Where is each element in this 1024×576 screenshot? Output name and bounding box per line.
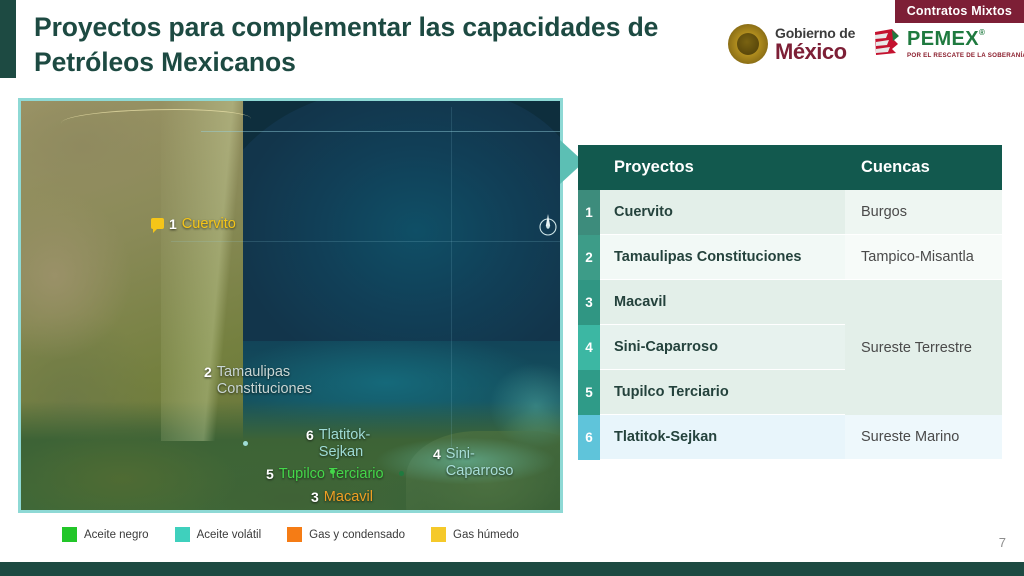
legend-label: Gas y condensado — [309, 529, 405, 541]
map-label-cuervito[interactable]: 1 Cuervito — [151, 216, 236, 233]
graticule-horizontal — [201, 131, 563, 132]
table-row[interactable]: 2 Tamaulipas Constituciones Tampico-Misa… — [578, 235, 1002, 280]
page-title: Proyectos para complementar las capacida… — [34, 10, 724, 80]
legend-swatch-icon — [175, 527, 190, 542]
legend-item-aceite-volatil: Aceite volátil — [175, 527, 262, 542]
pemex-logo: PEMEX® POR EL RESCATE DE LA SOBERANÍA — [872, 26, 1024, 60]
row-basin-name: Sureste Marino — [845, 415, 1002, 460]
map-label-tupilco-terciario[interactable]: 5 Tupilco Terciario — [266, 466, 384, 483]
legend-label: Aceite negro — [84, 529, 149, 541]
map-label-tlatitok-sejkan[interactable]: 6 Tlatitok- Sejkan — [306, 427, 370, 460]
legend-item-gas-humedo: Gas húmedo — [431, 527, 519, 542]
table-header-proyectos: Proyectos — [600, 145, 845, 190]
map-label-number: 6 — [306, 427, 314, 443]
map-label-number: 2 — [204, 364, 212, 380]
gobierno-de-mexico-logo: Gobierno de México — [728, 24, 855, 64]
row-number-badge: 1 — [578, 190, 600, 235]
pemex-tagline: POR EL RESCATE DE LA SOBERANÍA — [907, 52, 1024, 59]
merged-basin-cell: Sureste Terrestre — [845, 280, 1002, 415]
map-pin-icon — [151, 218, 164, 229]
row-basin-name: Burgos — [845, 190, 1002, 235]
row-basin-name: Tampico-Misantla — [845, 235, 1002, 280]
row-project-name: Macavil — [600, 280, 845, 325]
row-number-badge: 3 — [578, 280, 600, 325]
graticule-horizontal-2 — [171, 241, 563, 242]
map-label-name: Macavil — [324, 489, 373, 506]
legend-swatch-icon — [431, 527, 446, 542]
map-point-sini — [399, 471, 404, 476]
projects-table: Proyectos Cuencas 1 Cuervito Burgos 2 Ta… — [578, 145, 1002, 460]
map-label-tamaulipas-constituciones[interactable]: 2 Tamaulipas Constituciones — [204, 364, 312, 397]
graticule-vertical — [451, 107, 452, 447]
map-panel[interactable]: 0 40 80 160 240 320 Kilómetros 1 Cuervit… — [18, 98, 563, 513]
legend: Aceite negro Aceite volátil Gas y conden… — [62, 527, 519, 542]
eagle-seal-icon — [728, 24, 768, 64]
bottom-accent-bar — [0, 562, 1024, 576]
status-badge-contratos: Contratos Mixtos — [895, 0, 1024, 23]
compass-north-icon — [535, 213, 561, 239]
row-project-name: Tupilco Terciario — [600, 370, 845, 415]
map-label-name-block: Tlatitok- Sejkan — [319, 427, 371, 460]
map-label-number: 4 — [433, 446, 441, 462]
row-project-name: Sini-Caparroso — [600, 325, 845, 370]
registered-mark-icon: ® — [979, 28, 985, 37]
map-label-name-block: Sini- Caparroso — [446, 446, 514, 479]
map-label-name-block: Tamaulipas Constituciones — [217, 364, 312, 397]
row-project-name: Tamaulipas Constituciones — [600, 235, 845, 280]
legend-swatch-icon — [287, 527, 302, 542]
legend-swatch-icon — [62, 527, 77, 542]
pemex-eagle-icon — [872, 26, 902, 60]
map-label-number: 3 — [311, 489, 319, 505]
campeche-shelf-highlight — [476, 351, 563, 461]
row-number-badge: 4 — [578, 325, 600, 370]
map-label-number: 5 — [266, 466, 274, 482]
table-body: 1 Cuervito Burgos 2 Tamaulipas Constituc… — [578, 190, 1002, 460]
table-row[interactable]: 6 Tlatitok-Sejkan Sureste Marino — [578, 415, 1002, 460]
table-header-num — [578, 145, 600, 190]
map-point-tupilco — [330, 469, 335, 474]
gobierno-logo-text: Gobierno de México — [775, 26, 855, 63]
left-accent-bar — [0, 0, 16, 78]
row-project-name: Cuervito — [600, 190, 845, 235]
page-number: 7 — [999, 535, 1006, 550]
gobierno-line2: México — [775, 41, 855, 63]
row-number-badge: 2 — [578, 235, 600, 280]
table-row[interactable]: 1 Cuervito Burgos — [578, 190, 1002, 235]
slide-root: Proyectos para complementar las capacida… — [0, 0, 1024, 576]
pemex-logo-text: PEMEX® POR EL RESCATE DE LA SOBERANÍA — [907, 26, 1024, 59]
map-label-number: 1 — [169, 216, 177, 232]
map-point-tlatitok — [243, 441, 248, 446]
map-label-macavil[interactable]: 3 Macavil — [311, 489, 373, 506]
row-number-badge: 5 — [578, 370, 600, 415]
gobierno-line1: Gobierno de — [775, 26, 855, 40]
row-number-badge: 6 — [578, 415, 600, 460]
map-label-sini-caparroso[interactable]: 4 Sini- Caparroso — [433, 446, 514, 479]
legend-item-gas-y-condensado: Gas y condensado — [287, 527, 405, 542]
row-project-name: Tlatitok-Sejkan — [600, 415, 845, 460]
table-header-row: Proyectos Cuencas — [578, 145, 1002, 190]
table-header-cuencas: Cuencas — [845, 145, 1002, 190]
pemex-wordmark: PEMEX® — [907, 29, 1024, 49]
legend-item-aceite-negro: Aceite negro — [62, 527, 149, 542]
legend-label: Gas húmedo — [453, 529, 519, 541]
legend-label: Aceite volátil — [197, 529, 262, 541]
map-label-name: Cuervito — [182, 216, 236, 233]
